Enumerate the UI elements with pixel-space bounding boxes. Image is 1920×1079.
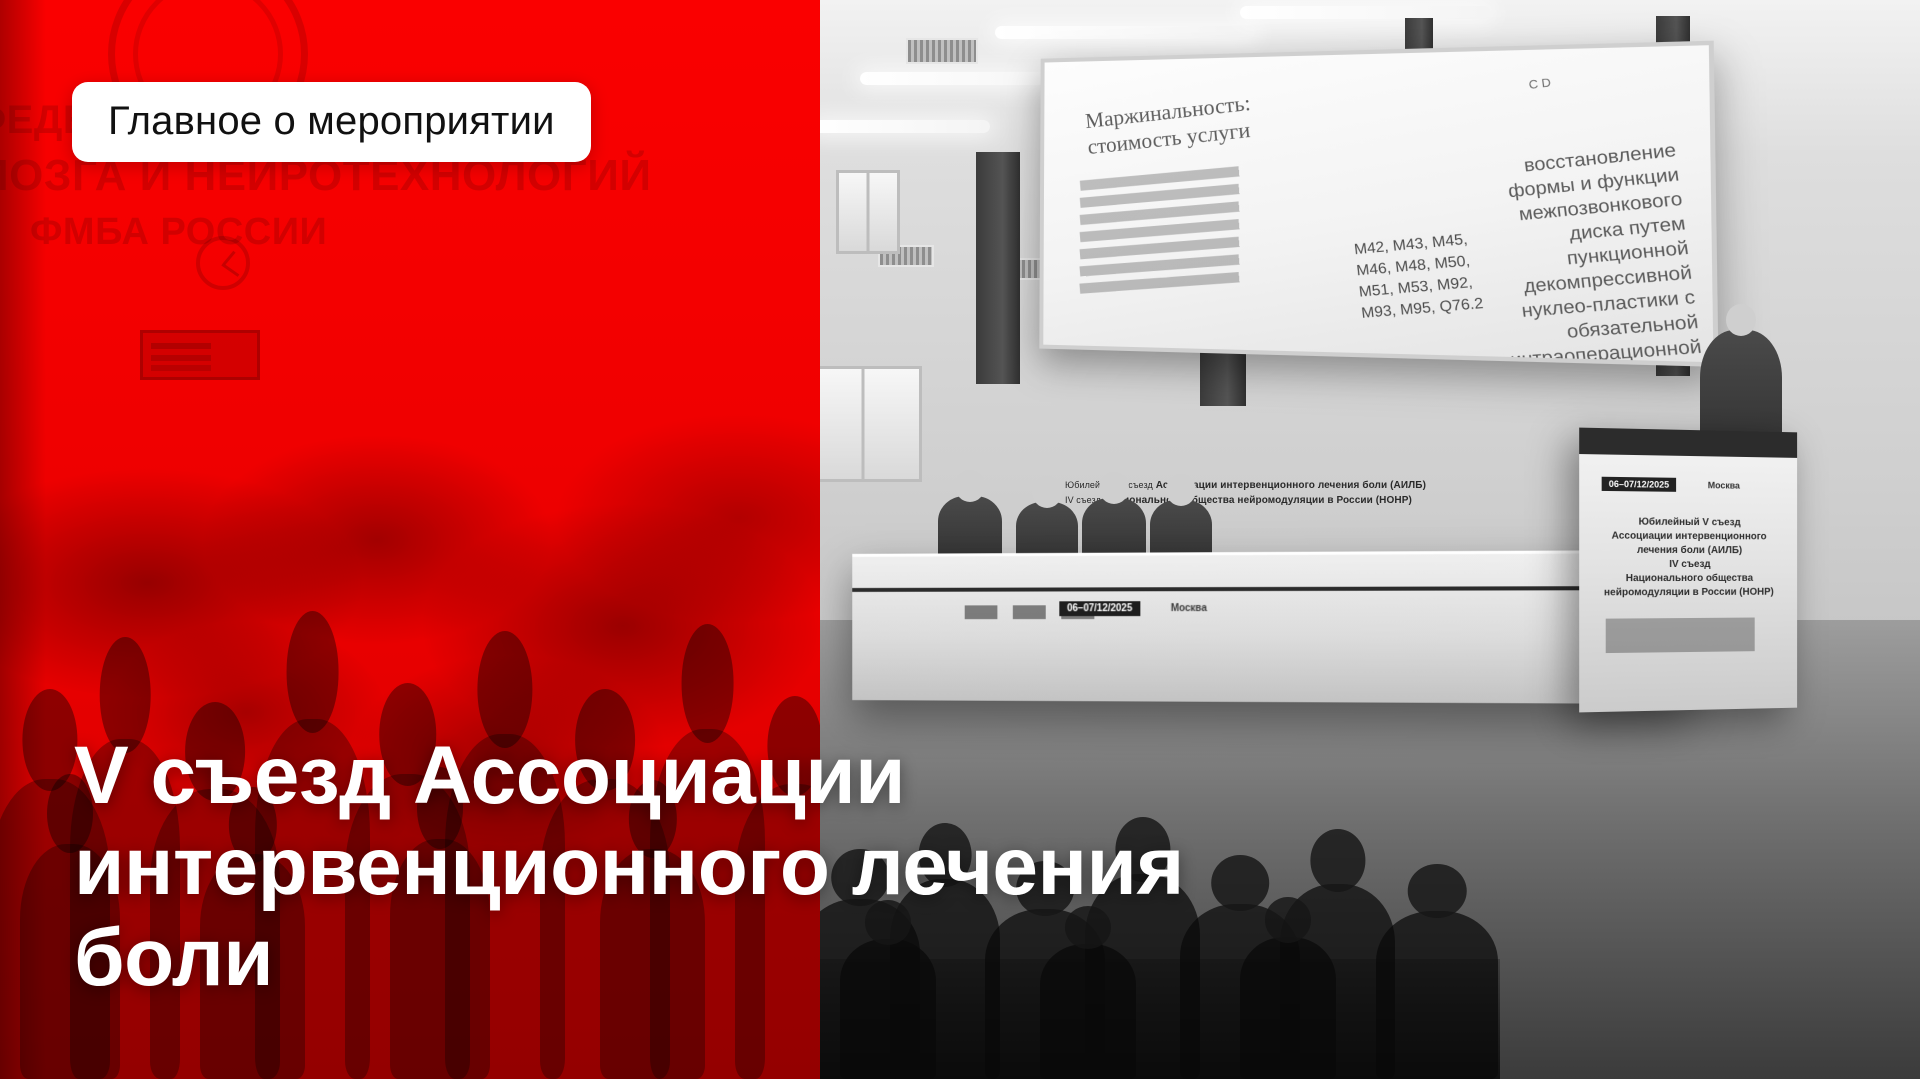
ceiling-lamp xyxy=(995,26,1255,39)
sponsor-logo-icon xyxy=(1013,605,1046,619)
event-promo-card: ФЕДЕРАЛЬНЫЙ ЦЕНТР МОЗГА И НЕЙРОТЕХНОЛОГИ… xyxy=(0,0,1920,1079)
podium-text-line-3: лечения боли (АИЛБ) xyxy=(1600,544,1778,559)
page-title: V съезд Ассоциации интервенционного лече… xyxy=(74,730,1864,1003)
headline-line-1: V съезд Ассоциации xyxy=(74,730,1864,821)
desk-trim xyxy=(852,586,1689,592)
podium-top-panel xyxy=(1579,428,1797,458)
panel-edge-shadow xyxy=(0,0,46,1079)
headline-line-2: интервенционного лечения xyxy=(74,821,1864,912)
ceiling-vent xyxy=(906,38,978,64)
podium-lectern: 06–07/12/2025 Москва Юбилейный V съезд А… xyxy=(1579,428,1797,713)
hall-window xyxy=(820,366,922,482)
banner-line-2-main: Национального общества нейромодуляции в … xyxy=(1104,495,1412,506)
ceiling-lamp xyxy=(820,120,990,133)
podium-text-line-5: Национального общества xyxy=(1600,572,1778,586)
headline-line-3: боли xyxy=(74,912,1864,1003)
badge-label: Главное о мероприятии xyxy=(108,99,555,143)
podium-text-line-4: IV съезд xyxy=(1600,558,1778,572)
banner-line-1: Юбилейный V съезд Ассоциации интервенцио… xyxy=(1065,478,1545,493)
hall-window xyxy=(836,170,900,254)
slide-column-headers: C D xyxy=(1528,74,1552,94)
podium-text-line-1: Юбилейный V съезд xyxy=(1600,515,1778,530)
podium-event-text: Юбилейный V съезд Ассоциации интервенцио… xyxy=(1600,515,1778,600)
sponsor-logo-icon xyxy=(965,605,998,619)
podium-city-tag: Москва xyxy=(1708,480,1740,490)
podium-text-line-6: нейромодуляции в России (НОНР) xyxy=(1600,586,1778,601)
podium-logo-icon xyxy=(1606,618,1755,654)
wall-clock-icon xyxy=(196,236,250,290)
wall-screen-icon xyxy=(140,330,260,380)
podium-date-tag: 06–07/12/2025 xyxy=(1602,477,1677,492)
ceiling-lamp xyxy=(1240,6,1490,19)
presidium-desk: 06–07/12/2025 Москва xyxy=(852,550,1689,704)
banner-line-1-main: Ассоциации интервенционного лечения боли… xyxy=(1156,480,1426,491)
projection-screen: Маржинальность: стоимость услуги C D M42… xyxy=(1039,41,1718,367)
slide-table xyxy=(1079,168,1342,294)
slide-description: восстановление формы и функции межпозвон… xyxy=(1457,138,1707,367)
desk-date-tag: 06–07/12/2025 xyxy=(1059,601,1140,616)
hall-column xyxy=(976,152,1020,384)
desk-city-tag: Москва xyxy=(1171,603,1207,614)
podium-text-line-2: Ассоциации интервенционного xyxy=(1600,529,1778,544)
slide-title: Маржинальность: стоимость услуги xyxy=(1084,77,1361,160)
event-category-badge[interactable]: Главное о мероприятии xyxy=(72,82,591,162)
